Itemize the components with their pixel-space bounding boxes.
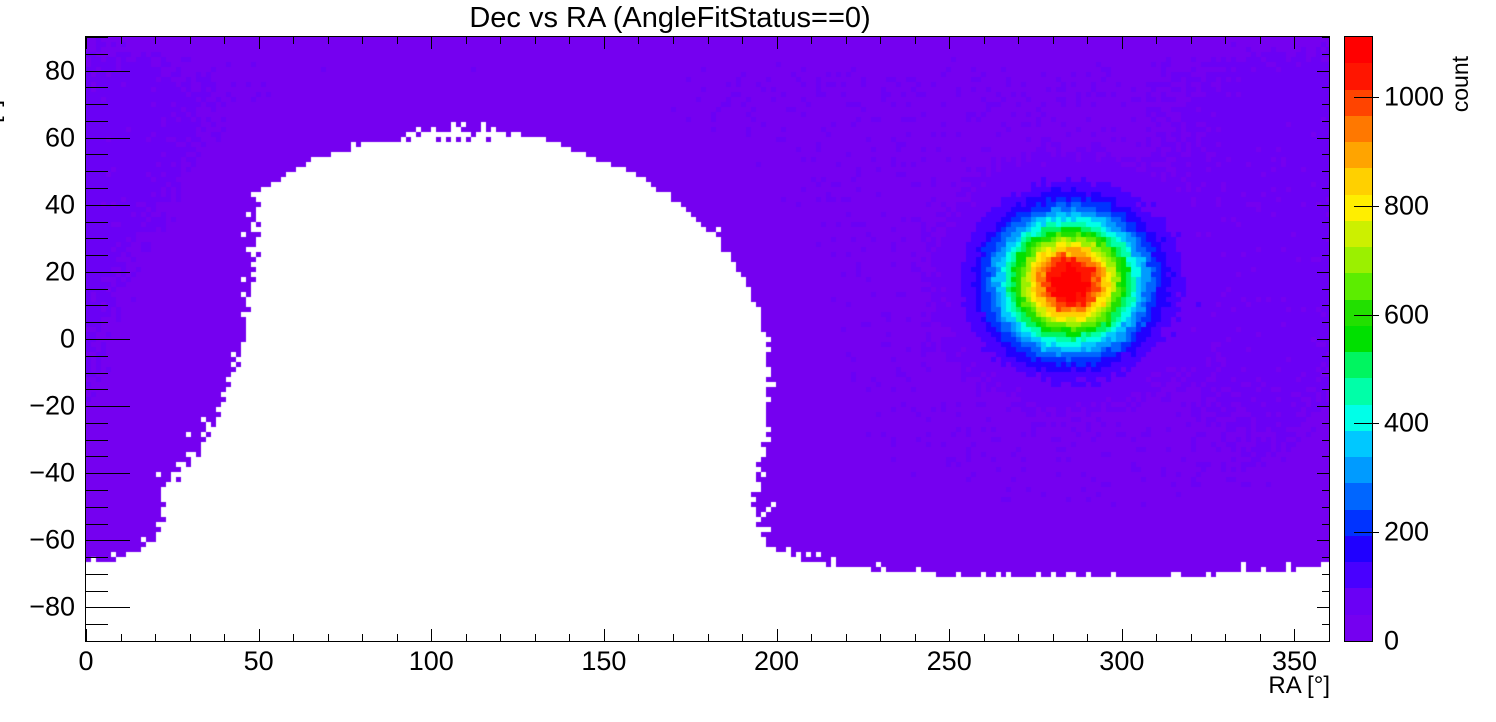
- x-axis-minor-tick: [569, 634, 570, 641]
- y-axis-right-tick: [1322, 104, 1329, 105]
- y-axis-minor-tick: [86, 456, 108, 457]
- x-axis-minor-tick: [1087, 634, 1088, 641]
- colorbar-tick: [1354, 97, 1379, 98]
- colorbar-band: [1345, 37, 1372, 63]
- x-axis-minor-tick: [638, 634, 639, 641]
- x-axis-minor-tick: [846, 634, 847, 641]
- y-axis-right-tick: [1322, 591, 1329, 592]
- y-axis-minor-tick: [86, 591, 108, 592]
- colorbar-band: [1345, 483, 1372, 510]
- x-axis-minor-tick: [708, 634, 709, 641]
- colorbar-band: [1345, 247, 1372, 273]
- x-axis-minor-tick: [1329, 634, 1330, 641]
- y-axis-tick-label: 0: [0, 324, 75, 355]
- colorbar-band: [1345, 168, 1372, 195]
- colorbar-band: [1345, 378, 1372, 405]
- y-axis-major-tick: [86, 71, 130, 72]
- colorbar-band: [1345, 405, 1372, 431]
- colorbar-band: [1345, 195, 1372, 221]
- y-axis-minor-tick: [86, 305, 108, 306]
- y-axis-right-tick: [1322, 322, 1329, 323]
- x-axis-major-tick: [604, 629, 605, 641]
- x-axis-minor-tick: [1260, 634, 1261, 641]
- y-axis-major-tick: [86, 607, 130, 608]
- x-axis-tick-label: 100: [409, 646, 454, 677]
- x-axis-top-tick: [86, 37, 87, 49]
- y-axis-minor-tick: [86, 322, 108, 323]
- y-axis-right-tick: [1322, 154, 1329, 155]
- y-axis-right-tick: [1322, 423, 1329, 424]
- colorbar-band: [1345, 457, 1372, 483]
- x-axis-major-tick: [777, 629, 778, 641]
- x-axis-top-tick: [777, 37, 778, 49]
- x-axis-top-tick: [742, 37, 743, 44]
- y-axis-minor-tick: [86, 37, 108, 38]
- y-axis-minor-tick: [86, 87, 108, 88]
- x-axis-top-tick: [1329, 37, 1330, 44]
- colorbar-tick-label: 600: [1384, 300, 1429, 331]
- y-axis-right-tick: [1322, 255, 1329, 256]
- y-axis-minor-tick: [86, 154, 108, 155]
- x-axis-major-tick: [259, 629, 260, 641]
- y-axis-minor-tick: [86, 557, 108, 558]
- y-axis-right-tick: [1322, 121, 1329, 122]
- y-axis-right-tick: [1317, 607, 1329, 608]
- x-axis-minor-tick: [190, 634, 191, 641]
- colorbar-tick: [1354, 206, 1379, 207]
- colorbar-band: [1345, 116, 1372, 142]
- colorbar-tick: [1354, 423, 1379, 424]
- y-axis-right-tick: [1317, 71, 1329, 72]
- chart-title: Dec vs RA (AngleFitStatus==0): [0, 2, 1340, 35]
- x-axis-top-tick: [466, 37, 467, 44]
- x-axis-top-tick: [293, 37, 294, 44]
- y-axis-major-tick: [86, 406, 130, 407]
- colorbar-band: [1345, 431, 1372, 457]
- x-axis-minor-tick: [880, 634, 881, 641]
- colorbar-tick: [1354, 532, 1379, 533]
- x-axis-minor-tick: [224, 634, 225, 641]
- x-axis-top-tick: [1191, 37, 1192, 44]
- x-axis-minor-tick: [984, 634, 985, 641]
- colorbar-tick-label: 0: [1384, 626, 1399, 657]
- colorbar-band: [1345, 63, 1372, 90]
- x-axis-minor-tick: [915, 634, 916, 641]
- y-axis-title: declination [°]: [0, 100, 6, 244]
- colorbar-tick-label: 400: [1384, 408, 1429, 439]
- x-axis-major-tick: [1122, 629, 1123, 641]
- x-axis-minor-tick: [293, 634, 294, 641]
- x-axis-top-tick: [846, 37, 847, 44]
- x-axis-top-tick: [397, 37, 398, 44]
- x-axis-top-tick: [121, 37, 122, 44]
- y-axis-minor-tick: [86, 524, 108, 525]
- y-axis-right-tick: [1322, 524, 1329, 525]
- y-axis-right-tick: [1322, 305, 1329, 306]
- x-axis-tick-label: 50: [244, 646, 274, 677]
- x-axis-minor-tick: [362, 634, 363, 641]
- y-axis-right-tick: [1317, 406, 1329, 407]
- x-axis-minor-tick: [1156, 634, 1157, 641]
- x-axis-top-tick: [431, 37, 432, 49]
- x-axis-tick-label: 200: [754, 646, 799, 677]
- x-axis-major-tick: [949, 629, 950, 641]
- y-axis-minor-tick: [86, 54, 108, 55]
- x-axis-minor-tick: [1191, 634, 1192, 641]
- x-axis-minor-tick: [155, 634, 156, 641]
- colorbar-band: [1345, 142, 1372, 168]
- colorbar-band: [1345, 615, 1372, 641]
- x-axis-top-tick: [535, 37, 536, 44]
- x-axis-top-tick: [811, 37, 812, 44]
- y-axis-right-tick: [1322, 624, 1329, 625]
- x-axis-top-tick: [569, 37, 570, 44]
- y-axis-minor-tick: [86, 104, 108, 105]
- x-axis-top-tick: [1225, 37, 1226, 44]
- x-axis-minor-tick: [535, 634, 536, 641]
- x-axis-minor-tick: [742, 634, 743, 641]
- x-axis-top-tick: [500, 37, 501, 44]
- y-axis-right-tick: [1317, 205, 1329, 206]
- colorbar: [1344, 36, 1373, 642]
- y-axis-tick-label: −40: [0, 458, 75, 489]
- y-axis-right-tick: [1322, 507, 1329, 508]
- colorbar-band: [1345, 90, 1372, 116]
- x-axis-major-tick: [1294, 629, 1295, 641]
- x-axis-minor-tick: [500, 634, 501, 641]
- colorbar-title: count: [1447, 56, 1474, 112]
- x-axis-minor-tick: [397, 634, 398, 641]
- x-axis-top-tick: [708, 37, 709, 44]
- x-axis-top-tick: [362, 37, 363, 44]
- y-axis-minor-tick: [86, 641, 108, 642]
- x-axis-tick-label: 250: [927, 646, 972, 677]
- x-axis-top-tick: [1260, 37, 1261, 44]
- heatmap-canvas: [86, 37, 1329, 641]
- y-axis-right-tick: [1317, 138, 1329, 139]
- y-axis-minor-tick: [86, 188, 108, 189]
- y-axis-minor-tick: [86, 238, 108, 239]
- colorbar-band: [1345, 221, 1372, 247]
- x-axis-title: RA [°]: [1268, 672, 1330, 700]
- y-axis-tick-label: −80: [0, 592, 75, 623]
- y-axis-major-tick: [86, 339, 130, 340]
- x-axis-top-tick: [155, 37, 156, 44]
- y-axis-right-tick: [1322, 389, 1329, 390]
- y-axis-right-tick: [1322, 54, 1329, 55]
- colorbar-band: [1345, 562, 1372, 588]
- x-axis-top-tick: [638, 37, 639, 44]
- plot-frame: [85, 36, 1330, 642]
- y-axis-right-tick: [1322, 356, 1329, 357]
- y-axis-right-tick: [1322, 440, 1329, 441]
- x-axis-minor-tick: [1225, 634, 1226, 641]
- x-axis-minor-tick: [1053, 634, 1054, 641]
- y-axis-minor-tick: [86, 289, 108, 290]
- y-axis-minor-tick: [86, 255, 108, 256]
- y-axis-tick-label: 60: [0, 122, 75, 153]
- y-axis-right-tick: [1322, 490, 1329, 491]
- x-axis-top-tick: [1053, 37, 1054, 44]
- y-axis-minor-tick: [86, 356, 108, 357]
- y-axis-tick-label: 80: [0, 55, 75, 86]
- y-axis-right-tick: [1322, 373, 1329, 374]
- colorbar-band: [1345, 326, 1372, 352]
- x-axis-top-tick: [604, 37, 605, 49]
- y-axis-minor-tick: [86, 490, 108, 491]
- y-axis-tick-label: 20: [0, 256, 75, 287]
- y-axis-minor-tick: [86, 373, 108, 374]
- y-axis-tick-label: −20: [0, 391, 75, 422]
- y-axis-right-tick: [1322, 574, 1329, 575]
- y-axis-right-tick: [1322, 641, 1329, 642]
- colorbar-tick-label: 200: [1384, 517, 1429, 548]
- x-axis-top-tick: [1156, 37, 1157, 44]
- y-axis-right-tick: [1317, 473, 1329, 474]
- y-axis-minor-tick: [86, 389, 108, 390]
- y-axis-major-tick: [86, 205, 130, 206]
- x-axis-tick-label: 0: [78, 646, 93, 677]
- colorbar-tick-label: 800: [1384, 191, 1429, 222]
- colorbar-band: [1345, 536, 1372, 562]
- y-axis-right-tick: [1322, 171, 1329, 172]
- colorbar-tick: [1354, 315, 1379, 316]
- x-axis-major-tick: [86, 629, 87, 641]
- y-axis-right-tick: [1322, 557, 1329, 558]
- colorbar-band: [1345, 588, 1372, 615]
- y-axis-right-tick: [1317, 540, 1329, 541]
- x-axis-top-tick: [1294, 37, 1295, 49]
- x-axis-minor-tick: [328, 634, 329, 641]
- x-axis-top-tick: [673, 37, 674, 44]
- x-axis-minor-tick: [466, 634, 467, 641]
- y-axis-right-tick: [1322, 289, 1329, 290]
- y-axis-right-tick: [1322, 456, 1329, 457]
- y-axis-right-tick: [1322, 188, 1329, 189]
- x-axis-top-tick: [224, 37, 225, 44]
- x-axis-minor-tick: [673, 634, 674, 641]
- x-axis-top-tick: [1087, 37, 1088, 44]
- y-axis-major-tick: [86, 272, 130, 273]
- y-axis-minor-tick: [86, 222, 108, 223]
- y-axis-minor-tick: [86, 121, 108, 122]
- x-axis-top-tick: [880, 37, 881, 44]
- y-axis-major-tick: [86, 138, 130, 139]
- y-axis-minor-tick: [86, 171, 108, 172]
- y-axis-right-tick: [1322, 87, 1329, 88]
- x-axis-minor-tick: [811, 634, 812, 641]
- x-axis-major-tick: [431, 629, 432, 641]
- x-axis-top-tick: [328, 37, 329, 44]
- x-axis-tick-label: 300: [1099, 646, 1144, 677]
- y-axis-tick-label: −60: [0, 525, 75, 556]
- y-axis-right-tick: [1322, 222, 1329, 223]
- y-axis-minor-tick: [86, 507, 108, 508]
- colorbar-band: [1345, 273, 1372, 300]
- x-axis-top-tick: [915, 37, 916, 44]
- x-axis-top-tick: [1018, 37, 1019, 44]
- y-axis-minor-tick: [86, 624, 108, 625]
- y-axis-right-tick: [1317, 272, 1329, 273]
- colorbar-band: [1345, 352, 1372, 378]
- x-axis-top-tick: [1122, 37, 1123, 49]
- x-axis-tick-label: 150: [581, 646, 626, 677]
- x-axis-top-tick: [984, 37, 985, 44]
- y-axis-minor-tick: [86, 574, 108, 575]
- y-axis-major-tick: [86, 540, 130, 541]
- y-axis-major-tick: [86, 473, 130, 474]
- y-axis-minor-tick: [86, 440, 108, 441]
- colorbar-tick-label: 1000: [1384, 82, 1444, 113]
- y-axis-right-tick: [1317, 339, 1329, 340]
- x-axis-top-tick: [190, 37, 191, 44]
- y-axis-right-tick: [1322, 238, 1329, 239]
- colorbar-band: [1345, 300, 1372, 326]
- x-axis-top-tick: [259, 37, 260, 49]
- y-axis-tick-label: 40: [0, 189, 75, 220]
- x-axis-minor-tick: [1018, 634, 1019, 641]
- y-axis-minor-tick: [86, 423, 108, 424]
- x-axis-minor-tick: [121, 634, 122, 641]
- y-axis-right-tick: [1322, 37, 1329, 38]
- x-axis-top-tick: [949, 37, 950, 49]
